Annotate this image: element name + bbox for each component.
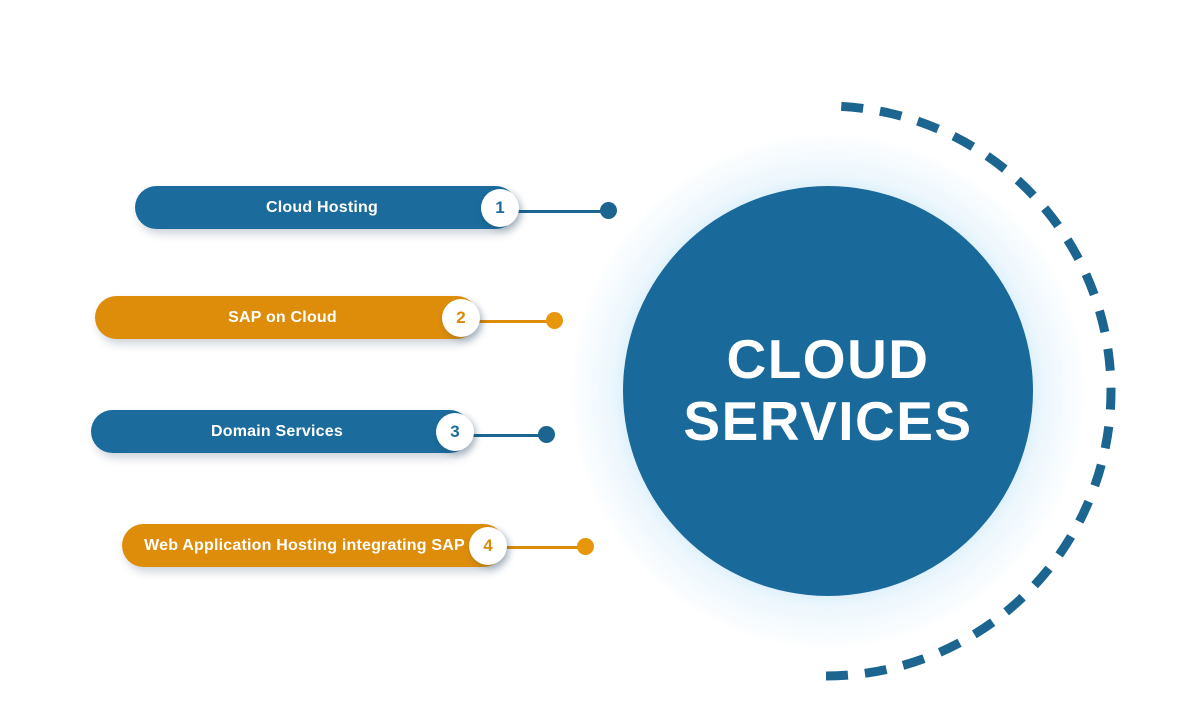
item-label-2: SAP on Cloud — [95, 309, 478, 327]
item-bar-1[interactable]: Cloud Hosting — [135, 186, 517, 229]
item-badge-1[interactable]: 1 — [481, 189, 519, 227]
central-title-line-1: CLOUD — [726, 329, 929, 391]
connector-node-4 — [577, 538, 594, 555]
connector-node-2 — [546, 312, 563, 329]
connector-node-3 — [538, 426, 555, 443]
connector-node-1 — [600, 202, 617, 219]
item-bar-2[interactable]: SAP on Cloud — [95, 296, 478, 339]
item-label-1: Cloud Hosting — [135, 199, 517, 217]
item-label-3: Domain Services — [91, 423, 471, 441]
connector-line-2 — [470, 320, 558, 323]
connector-line-1 — [508, 210, 610, 213]
item-label-4: Web Application Hosting integrating SAP — [122, 537, 505, 555]
item-badge-2[interactable]: 2 — [442, 299, 480, 337]
item-bar-4[interactable]: Web Application Hosting integrating SAP — [122, 524, 505, 567]
central-title: CLOUD SERVICES — [623, 186, 1033, 596]
item-badge-3[interactable]: 3 — [436, 413, 474, 451]
item-bar-3[interactable]: Domain Services — [91, 410, 471, 453]
item-badge-4[interactable]: 4 — [469, 527, 507, 565]
central-title-line-2: SERVICES — [683, 391, 972, 453]
diagram-canvas: Cloud Hosting 1 SAP on Cloud 2 Domain Se… — [0, 0, 1179, 720]
